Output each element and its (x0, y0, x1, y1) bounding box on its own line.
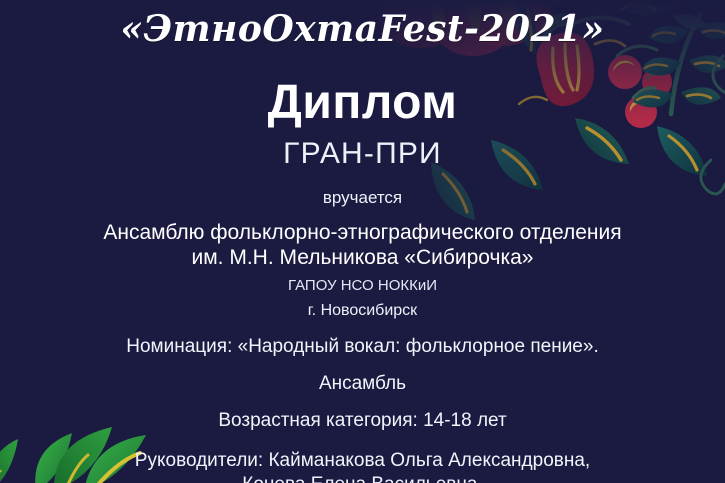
award-level: ГРАН-ПРИ (0, 127, 725, 169)
city-name: г. Новосибирск (0, 293, 725, 319)
nomination-category: Номинация: «Народный вокал: фольклорное … (0, 319, 725, 356)
recipient-name-line-2: им. М.Н. Мельникова «Сибирочка» (0, 245, 725, 271)
diploma-certificate: «ЭтноОхтаFest-2021» Диплом ГРАН-ПРИ вруч… (0, 0, 725, 483)
certificate-content: «ЭтноОхтаFest-2021» Диплом ГРАН-ПРИ вруч… (0, 0, 725, 483)
supervisor-line-2: Конева Елена Васильевна, (0, 473, 725, 483)
ensemble-type: Ансамбль (0, 356, 725, 393)
institution-name: ГАПОУ НСО НОККиИ (0, 271, 725, 293)
age-category: Возрастная категория: 14-18 лет (0, 393, 725, 430)
diploma-heading: Диплом (0, 50, 725, 127)
festival-title: «ЭтноОхтаFest-2021» (0, 0, 725, 50)
supervisor-line-1: Руководители: Кайманакова Ольга Александ… (0, 430, 725, 473)
recipient-name-line-1: Ансамблю фольклорно-этнографического отд… (0, 206, 725, 246)
awarded-to-label: вручается (0, 169, 725, 206)
